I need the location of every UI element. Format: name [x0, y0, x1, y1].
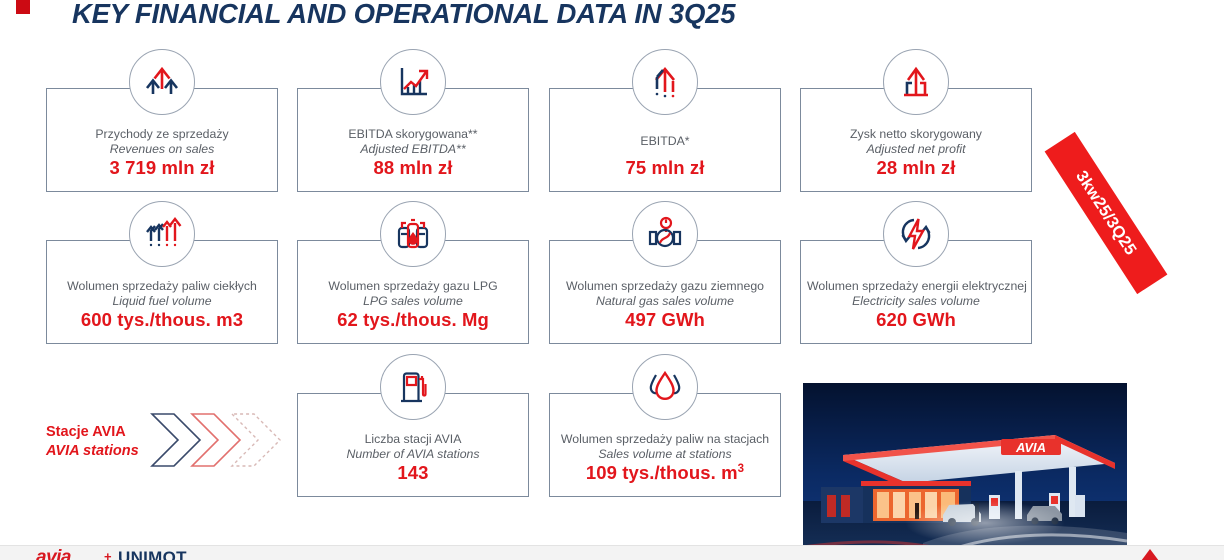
metric-label-pl: Wolumen sprzedaży gazu LPG [304, 279, 522, 294]
metric-value: 620 GWh [801, 309, 1031, 331]
quarter-ribbon-badge: 3kw25/3Q25 [1045, 132, 1168, 294]
metric-card-labels: Zysk netto skorygowany Adjusted net prof… [807, 127, 1025, 157]
metric-value: 143 [298, 462, 528, 484]
electricity-cycle-bolt-icon [883, 201, 949, 267]
metric-card-liquid-fuel-volume: Wolumen sprzedaży paliw ciekłych Liquid … [46, 240, 278, 344]
metric-value: 3 719 mln zł [47, 157, 277, 179]
corner-red-mark [16, 0, 30, 14]
metric-card-revenues: Przychody ze sprzedaży Revenues on sales… [46, 88, 278, 192]
metric-label-pl: EBITDA* [556, 134, 774, 149]
avia-stations-label: Stacje AVIA AVIA stations [46, 423, 139, 461]
metric-label-en: Adjusted net profit [807, 142, 1025, 157]
metric-label-en: Natural gas sales volume [556, 294, 774, 309]
metric-card-natural-gas-volume: Wolumen sprzedaży gazu ziemnego Natural … [549, 240, 781, 344]
metric-label-pl: Wolumen sprzedaży gazu ziemnego [556, 279, 774, 294]
avia-stations-label-pl: Stacje AVIA [46, 423, 139, 442]
metric-label-en: LPG sales volume [304, 294, 522, 309]
footer-plus-sign: + [104, 549, 112, 560]
metric-label-en: Electricity sales volume [807, 294, 1025, 309]
fuel-droplets-icon [632, 354, 698, 420]
metric-card-adjusted-ebitda: EBITDA skorygowana** Adjusted EBITDA** 8… [297, 88, 529, 192]
double-up-arrow-icon [632, 49, 698, 115]
metric-card-labels: EBITDA* [556, 134, 774, 149]
metric-label-pl: Zysk netto skorygowany [807, 127, 1025, 142]
metric-card-electricity-volume: Wolumen sprzedaży energii elektrycznej E… [800, 240, 1032, 344]
metric-label-pl: Przychody ze sprzedaży [53, 127, 271, 142]
metric-card-labels: Wolumen sprzedaży gazu LPG LPG sales vol… [304, 279, 522, 309]
metric-value-superscript: 3 [738, 463, 745, 475]
metric-label-en: Adjusted EBITDA** [304, 142, 522, 157]
metric-label-en: Number of AVIA stations [304, 447, 522, 462]
metric-label-en: Revenues on sales [53, 142, 271, 157]
metric-value: 28 mln zł [801, 157, 1031, 179]
metric-label-pl: Wolumen sprzedaży paliw na stacjach [556, 432, 774, 447]
triple-chevron-icon [148, 410, 288, 475]
bar-chart-growth-icon [380, 49, 446, 115]
avia-station-night-photo: AVIA [803, 383, 1127, 551]
metric-card-labels: Liczba stacji AVIA Number of AVIA statio… [304, 432, 522, 462]
unimot-logo: UNIMOT [118, 548, 187, 560]
avia-logo: avia [36, 548, 71, 560]
metric-card-adjusted-net-profit: Zysk netto skorygowany Adjusted net prof… [800, 88, 1032, 192]
metric-card-ebitda: EBITDA* 75 mln zł [549, 88, 781, 192]
arrow-up-bars-icon [883, 49, 949, 115]
metric-label-en: Sales volume at stations [556, 447, 774, 462]
avia-stations-label-en: AVIA stations [46, 442, 139, 461]
svg-text:AVIA: AVIA [1015, 440, 1046, 455]
metric-card-avia-stations-count: Liczba stacji AVIA Number of AVIA statio… [297, 393, 529, 497]
metric-value-main: 109 tys./thous. m [586, 462, 738, 483]
metric-card-labels: Wolumen sprzedaży paliw na stacjach Sale… [556, 432, 774, 462]
rising-arrows-dotted-icon [129, 201, 195, 267]
metric-value: 600 tys./thous. m3 [47, 309, 277, 331]
metric-card-labels: Wolumen sprzedaży gazu ziemnego Natural … [556, 279, 774, 309]
metric-value: 88 mln zł [298, 157, 528, 179]
avia-stations-block: Stacje AVIA AVIA stations [40, 405, 290, 475]
three-up-arrows-icon [129, 49, 195, 115]
lpg-cylinders-icon [380, 201, 446, 267]
metric-label-pl: Wolumen sprzedaży energii elektrycznej [807, 279, 1025, 294]
metric-card-lpg-volume: Wolumen sprzedaży gazu LPG LPG sales vol… [297, 240, 529, 344]
metric-card-labels: EBITDA skorygowana** Adjusted EBITDA** [304, 127, 522, 157]
gas-meter-valve-icon [632, 201, 698, 267]
fuel-pump-icon [380, 354, 446, 420]
metric-value: 109 tys./thous. m3 [550, 462, 780, 484]
metric-label-pl: EBITDA skorygowana** [304, 127, 522, 142]
page-title: KEY FINANCIAL AND OPERATIONAL DATA IN 3Q… [72, 0, 735, 30]
metric-card-labels: Wolumen sprzedaży energii elektrycznej E… [807, 279, 1025, 309]
metric-label-pl: Liczba stacji AVIA [304, 432, 522, 447]
red-triangle-icon [1141, 549, 1159, 560]
metric-label-en: Liquid fuel volume [53, 294, 271, 309]
metric-card-station-fuel-volume: Wolumen sprzedaży paliw na stacjach Sale… [549, 393, 781, 497]
metric-value: 62 tys./thous. Mg [298, 309, 528, 331]
metric-card-labels: Przychody ze sprzedaży Revenues on sales [53, 127, 271, 157]
metric-label-pl: Wolumen sprzedaży paliw ciekłych [53, 279, 271, 294]
metric-card-labels: Wolumen sprzedaży paliw ciekłych Liquid … [53, 279, 271, 309]
quarter-ribbon-label: 3kw25/3Q25 [1072, 167, 1140, 258]
metric-value: 497 GWh [550, 309, 780, 331]
metric-value: 75 mln zł [550, 157, 780, 179]
slide-canvas: KEY FINANCIAL AND OPERATIONAL DATA IN 3Q… [0, 0, 1224, 560]
